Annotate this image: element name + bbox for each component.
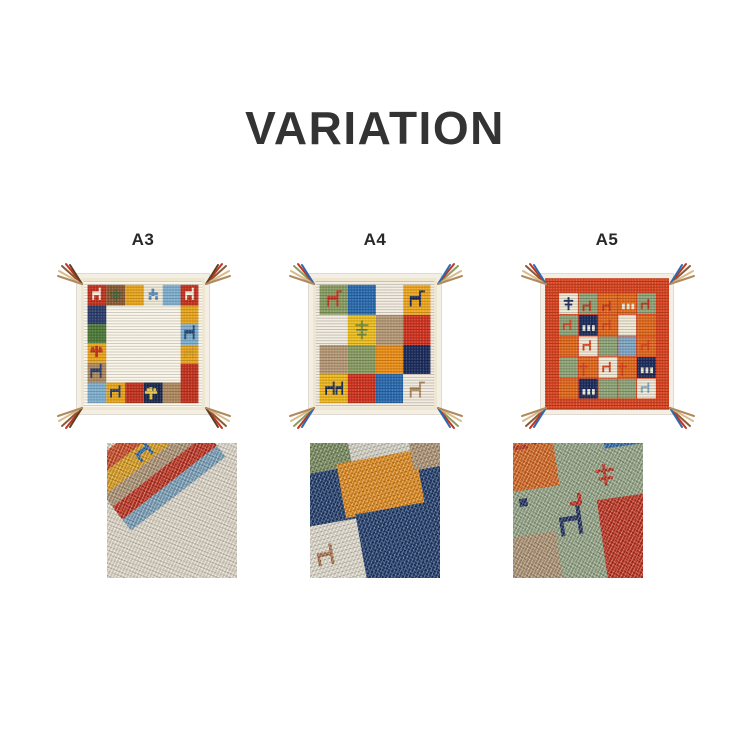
detail-photo-a4[interactable] xyxy=(310,443,440,578)
variation-item-a4[interactable]: A4 xyxy=(282,228,468,434)
a3-closeup-svg xyxy=(107,443,237,578)
rug-a5-svg xyxy=(541,274,673,414)
variation-label-a5: A5 xyxy=(514,228,700,252)
variation-label-a4: A4 xyxy=(282,228,468,252)
rug-image-a3[interactable] xyxy=(50,254,236,434)
detail-photo-a5[interactable] xyxy=(513,443,643,578)
rug-a4-svg xyxy=(309,274,441,414)
a4-closeup-svg xyxy=(310,443,440,578)
rug-image-a5[interactable] xyxy=(514,254,700,434)
variation-page: VARIATION A3 xyxy=(0,0,750,750)
page-title: VARIATION xyxy=(0,100,750,156)
rug-a3-svg xyxy=(77,274,209,414)
a3-texture xyxy=(81,278,205,410)
a5-closeup-svg xyxy=(513,443,643,578)
variation-item-a5[interactable]: A5 xyxy=(514,228,700,434)
detail-photo-a3[interactable] xyxy=(107,443,237,578)
detail-photo-list xyxy=(0,443,750,578)
variation-item-a3[interactable]: A3 xyxy=(50,228,236,434)
variation-label-a3: A3 xyxy=(50,228,236,252)
rug-image-a4[interactable] xyxy=(282,254,468,434)
variation-list: A3 xyxy=(0,228,750,434)
